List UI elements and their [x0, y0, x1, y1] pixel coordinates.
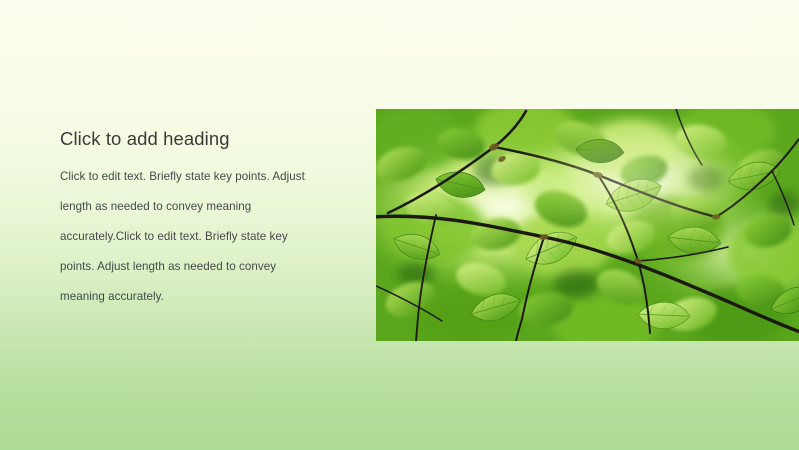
- page-title[interactable]: Click to add heading: [60, 128, 322, 150]
- green-beech-leaves-photo[interactable]: [376, 109, 799, 341]
- leaves-illustration: [376, 109, 799, 341]
- text-content-block: Click to add heading Click to edit text.…: [60, 128, 322, 312]
- body-paragraph[interactable]: Click to edit text. Briefly state key po…: [60, 162, 318, 312]
- slide-canvas: Click to add heading Click to edit text.…: [0, 0, 799, 450]
